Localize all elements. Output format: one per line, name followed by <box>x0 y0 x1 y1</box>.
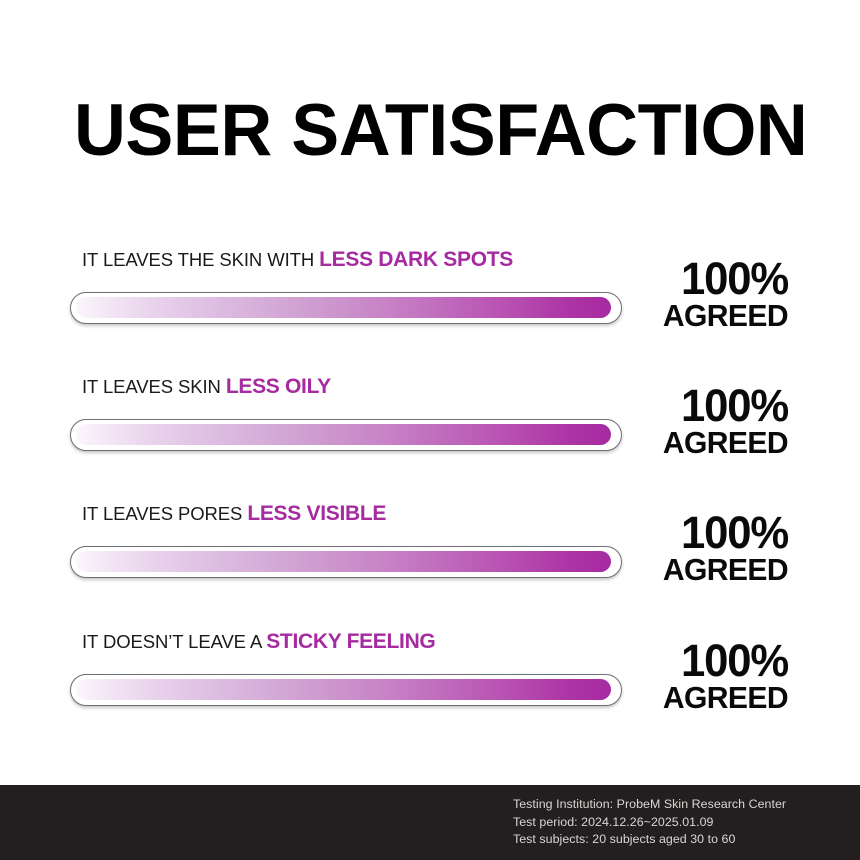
satisfaction-row: IT LEAVES THE SKIN WITH LESS DARK SPOTS … <box>0 248 860 358</box>
row-label: IT DOESN’T LEAVE A STICKY FEELING <box>82 630 435 654</box>
stat-percent: 100% <box>584 640 788 682</box>
footer-line-period: Test period: 2024.12.26~2025.01.09 <box>513 814 786 832</box>
progress-bar-fill <box>76 679 611 700</box>
stat-block: 100% AGREED <box>578 258 788 331</box>
satisfaction-row: IT LEAVES SKIN LESS OILY 100% AGREED <box>0 375 860 485</box>
row-label-prefix: IT LEAVES PORES <box>82 503 247 524</box>
stat-agreed-label: AGREED <box>584 554 788 585</box>
progress-bar-fill <box>76 551 611 572</box>
stat-percent: 100% <box>584 512 788 554</box>
satisfaction-rows: IT LEAVES THE SKIN WITH LESS DARK SPOTS … <box>0 0 860 780</box>
row-label: IT LEAVES PORES LESS VISIBLE <box>82 502 386 526</box>
row-label-prefix: IT LEAVES SKIN <box>82 376 226 397</box>
stat-block: 100% AGREED <box>578 385 788 458</box>
row-label-highlight: LESS OILY <box>226 375 331 398</box>
stat-agreed-label: AGREED <box>584 427 788 458</box>
progress-bar-track <box>70 419 622 451</box>
footer-line-subjects: Test subjects: 20 subjects aged 30 to 60 <box>513 831 786 849</box>
stat-agreed-label: AGREED <box>584 682 788 713</box>
satisfaction-infographic: USER SATISFACTION IT LEAVES THE SKIN WIT… <box>0 0 860 860</box>
satisfaction-row: IT DOESN’T LEAVE A STICKY FEELING 100% A… <box>0 630 860 740</box>
row-label-prefix: IT LEAVES THE SKIN WITH <box>82 249 319 270</box>
row-label-highlight: STICKY FEELING <box>266 630 435 653</box>
stat-block: 100% AGREED <box>578 512 788 585</box>
row-label-prefix: IT DOESN’T LEAVE A <box>82 631 266 652</box>
footer-text-block: Testing Institution: ProbeM Skin Researc… <box>513 796 786 849</box>
progress-bar-track <box>70 292 622 324</box>
stat-percent: 100% <box>584 385 788 427</box>
row-label: IT LEAVES SKIN LESS OILY <box>82 375 331 399</box>
stat-percent: 100% <box>584 258 788 300</box>
row-label-highlight: LESS VISIBLE <box>247 502 386 525</box>
footer-bar: Testing Institution: ProbeM Skin Researc… <box>0 785 860 860</box>
stat-block: 100% AGREED <box>578 640 788 713</box>
stat-agreed-label: AGREED <box>584 300 788 331</box>
footer-line-institution: Testing Institution: ProbeM Skin Researc… <box>513 796 786 814</box>
row-label-highlight: LESS DARK SPOTS <box>319 248 513 271</box>
satisfaction-row: IT LEAVES PORES LESS VISIBLE 100% AGREED <box>0 502 860 612</box>
progress-bar-track <box>70 546 622 578</box>
progress-bar-track <box>70 674 622 706</box>
progress-bar-fill <box>76 297 611 318</box>
progress-bar-fill <box>76 424 611 445</box>
row-label: IT LEAVES THE SKIN WITH LESS DARK SPOTS <box>82 248 513 272</box>
